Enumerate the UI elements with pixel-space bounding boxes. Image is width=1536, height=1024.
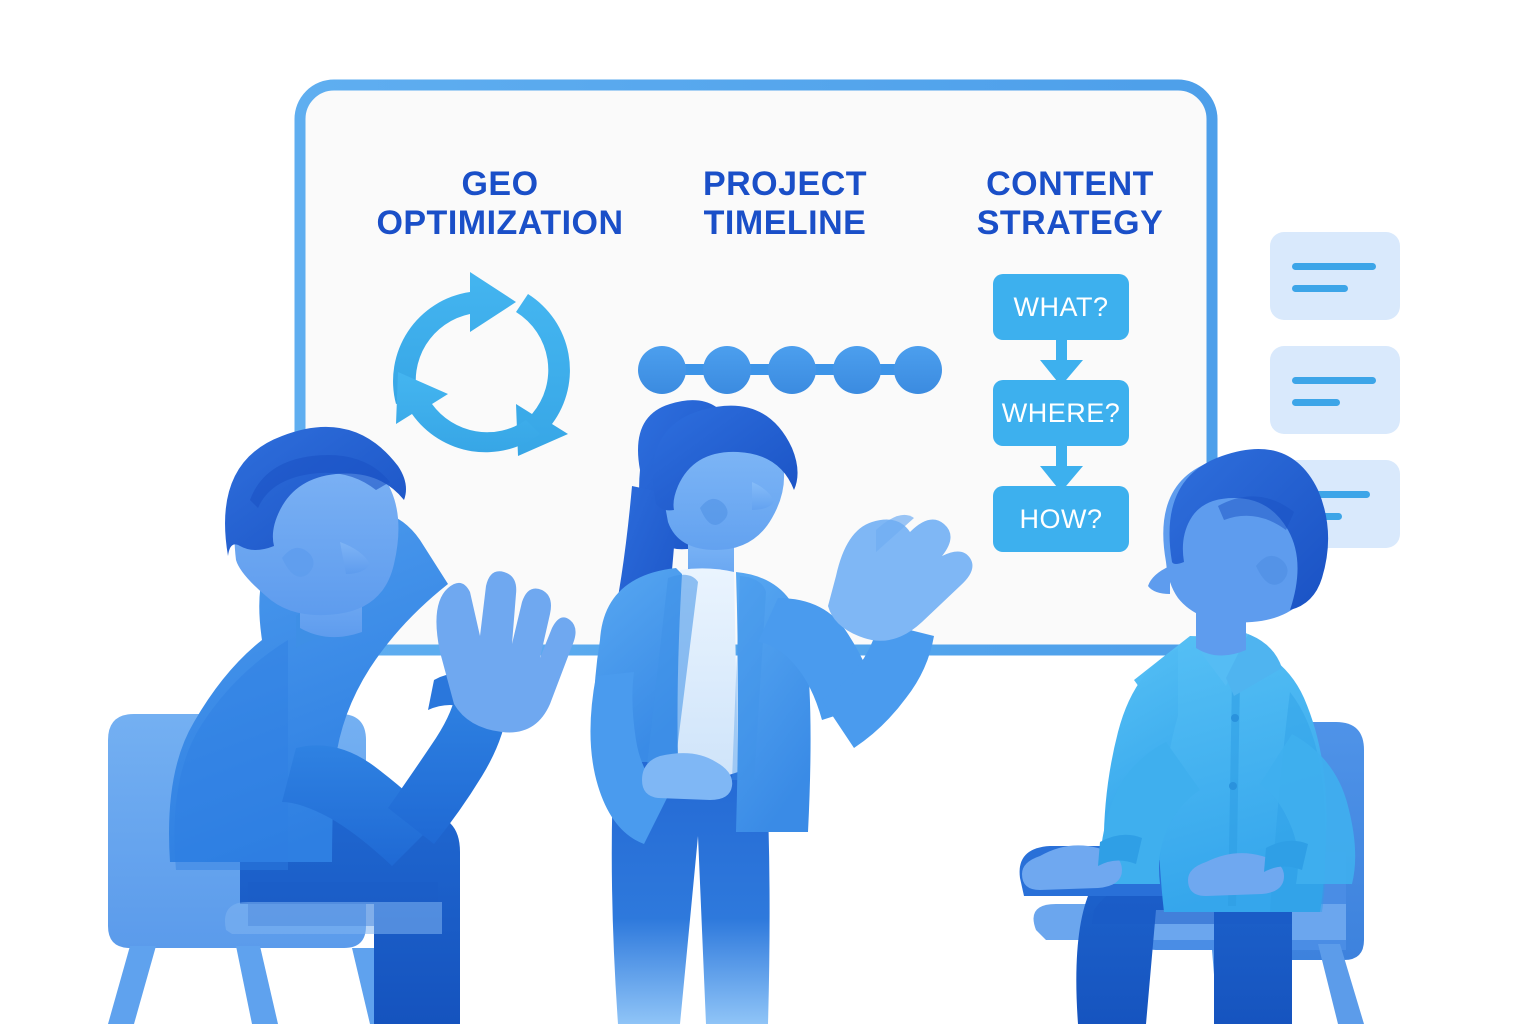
raised-hand-left-person	[436, 571, 575, 732]
gesturing-hand	[828, 515, 972, 641]
standing-woman-presenter	[590, 400, 972, 1024]
illustration-scene: GEO OPTIMIZATION PROJECT TIMELINE CONTEN…	[0, 0, 1536, 1024]
people-layer	[0, 0, 1536, 1024]
